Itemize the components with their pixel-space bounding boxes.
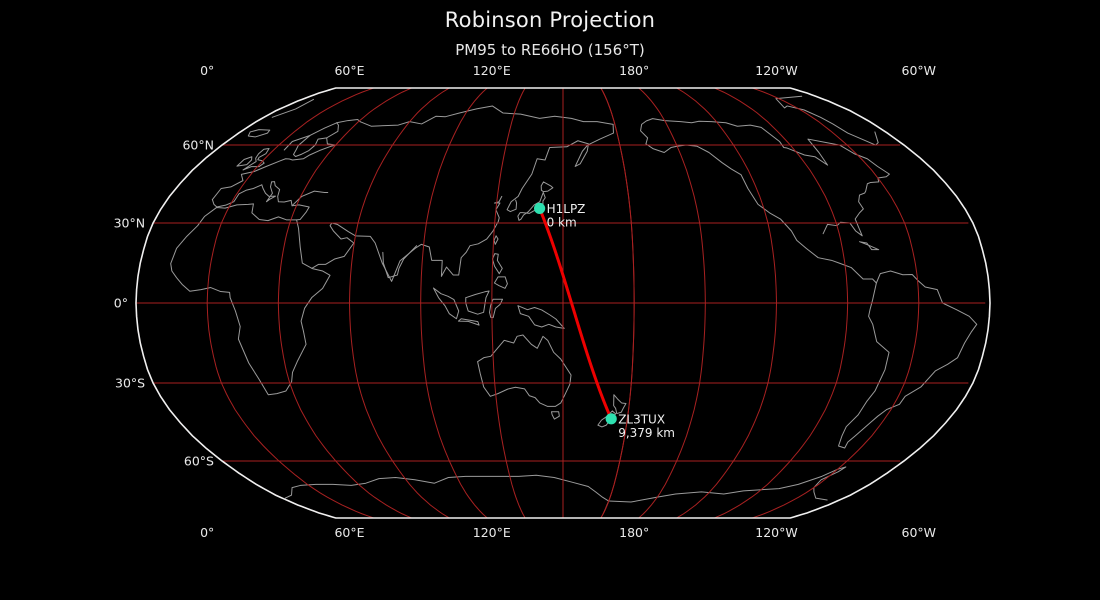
coastline — [646, 144, 876, 283]
lon-tick-top: 0° — [200, 63, 214, 78]
lon-tick-bottom: 60°E — [334, 525, 364, 540]
coastline — [507, 124, 613, 211]
coastline — [494, 277, 507, 288]
coastline — [272, 99, 313, 117]
coastline — [551, 412, 559, 419]
coastline — [614, 395, 626, 414]
station-callsign-label: H1LPZ — [547, 202, 586, 216]
station-distance-label: 0 km — [547, 215, 577, 229]
coastline — [541, 182, 553, 192]
coastline — [492, 254, 502, 274]
coastline — [312, 243, 354, 268]
coastline — [212, 119, 360, 199]
lon-tick-bottom: 120°W — [755, 525, 797, 540]
coastline — [839, 271, 977, 448]
coastline — [171, 204, 330, 395]
lon-tick-top: 120°E — [473, 63, 511, 78]
lat-tick: 60°N — [182, 138, 214, 153]
coastline — [262, 182, 276, 202]
coastline — [293, 135, 326, 156]
coastline — [641, 119, 890, 236]
lat-tick: 30°N — [114, 216, 146, 231]
coastline — [860, 242, 879, 250]
coastline — [609, 467, 846, 502]
coastline — [285, 475, 608, 501]
station-callsign-label: ZL3TUX — [618, 412, 665, 426]
lat-tick: 0° — [114, 296, 128, 311]
coastline — [360, 106, 613, 126]
coastline — [875, 132, 878, 145]
coastline — [494, 236, 498, 245]
station-marker[interactable] — [606, 413, 617, 424]
lon-tick-bottom: 180° — [619, 525, 649, 540]
coastline — [458, 319, 479, 325]
lat-tick: 30°S — [115, 376, 145, 391]
coastline — [478, 335, 571, 406]
coastline — [237, 157, 252, 166]
coastline — [330, 196, 502, 281]
lon-tick-top: 180° — [619, 63, 649, 78]
lon-tick-bottom: 60°W — [902, 525, 937, 540]
lon-tick-top: 60°W — [902, 63, 937, 78]
station-marker[interactable] — [534, 203, 545, 214]
lon-tick-bottom: 120°E — [473, 525, 511, 540]
lon-tick-top: 60°E — [334, 63, 364, 78]
coastline — [272, 182, 310, 220]
robinson-map-canvas: H1LPZ0 kmZL3TUX9,379 km 0°0°60°E60°E120°… — [0, 0, 1100, 600]
station-distance-label: 9,379 km — [618, 426, 675, 440]
map-figure: Robinson Projection PM95 to RE66HO (156°… — [0, 0, 1100, 600]
lat-tick: 60°S — [184, 453, 214, 468]
coastline — [776, 96, 876, 145]
coastline — [518, 306, 564, 329]
coastline — [212, 185, 261, 207]
graticule-layer — [136, 88, 985, 518]
coastline-layer — [171, 96, 977, 512]
lon-tick-bottom: 0° — [200, 525, 214, 540]
lon-tick-top: 120°W — [755, 63, 797, 78]
great-circle-path — [540, 208, 612, 418]
coastline — [248, 130, 270, 137]
great-circle-line — [540, 208, 612, 418]
